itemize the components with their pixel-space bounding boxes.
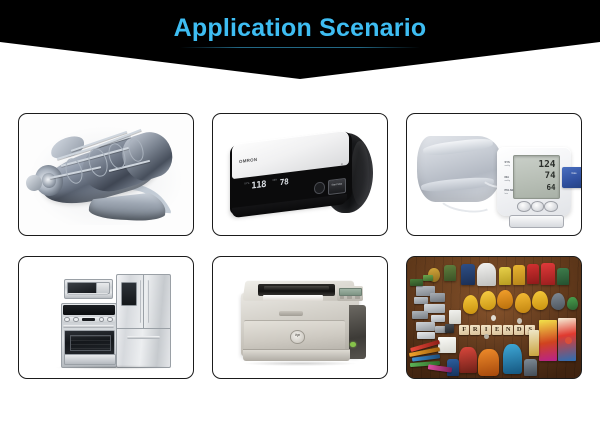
bp-sys-label: SYS mmHg [504, 162, 510, 167]
bp-systolic-value: 124 [538, 160, 555, 170]
printer-key-right[interactable] [355, 296, 359, 299]
panel-blood-pressure-monitor-with-cuff[interactable]: 124 74 64 SYS mmHg DIA mmHg PULSE /min [406, 113, 582, 236]
electric-range-oven [61, 303, 117, 368]
bp-dia-label: DIA mmHg [504, 177, 510, 182]
blood-pressure-monitor-with-cuff-image: 124 74 64 SYS mmHg DIA mmHg PULSE /min [407, 114, 581, 235]
panel-laser-printer[interactable] [212, 256, 388, 379]
bp-dia-unit: mmHg [504, 180, 510, 182]
tile-letter: I [481, 325, 491, 335]
tile-letter: R [470, 325, 480, 335]
bp-sys-unit: mmHg [504, 165, 510, 167]
bp-pulse-label: PULSE /min [504, 190, 513, 195]
printer-front-door-grip[interactable] [279, 311, 303, 316]
tile-letter: E [492, 325, 502, 335]
bp-diastolic-value: 74 [545, 172, 556, 181]
hp-logo-icon [290, 330, 306, 344]
tile-letter: D [514, 325, 524, 335]
scrabble-tiles: F R I E N D S [459, 325, 535, 335]
laser-printer-image [213, 257, 387, 378]
bp-set-button[interactable] [544, 201, 558, 211]
core-protect-line1: Core [562, 173, 581, 176]
title-underline [180, 47, 420, 48]
heart-indicator-icon [314, 181, 325, 194]
printer-control-panel[interactable] [337, 286, 363, 301]
omron-blood-pressure-monitor-image: OMRON ● SYS 118 DIA 78 Start Stop [213, 114, 387, 235]
bp-pulse-value: 64 [546, 184, 555, 192]
bp-button-row[interactable] [517, 202, 559, 210]
omron-diastolic-value: 78 [279, 178, 288, 187]
microwave-oven [64, 279, 113, 299]
printer-status-led [350, 342, 355, 347]
panel-omron-blood-pressure-monitor[interactable]: OMRON ● SYS 118 DIA 78 Start Stop [212, 113, 388, 236]
application-scenario-grid: OMRON ● SYS 118 DIA 78 Start Stop [18, 113, 582, 379]
printer-paper-cassette[interactable] [243, 349, 351, 361]
tile-letter: N [503, 325, 513, 335]
panel-kitchen-appliances[interactable] [18, 256, 194, 379]
omron-systolic-value: 118 [251, 181, 266, 192]
omron-start-stop-button[interactable]: Start Stop [328, 178, 346, 195]
page-title: Application Scenario [0, 14, 600, 43]
printer-key-mid[interactable] [347, 296, 351, 299]
omron-start-stop-label: Start Stop [329, 182, 345, 187]
header-banner: Application Scenario [0, 0, 600, 80]
bp-start-button[interactable] [509, 215, 563, 228]
omron-sys-label: SYS [244, 183, 249, 186]
tile-letter: F [459, 325, 469, 335]
bp-mode-button[interactable] [531, 201, 545, 211]
omron-dia-label: DIA [272, 180, 276, 183]
bp-memory-button[interactable] [517, 201, 531, 211]
toys-on-wooden-table-image: F R I E N D S [407, 257, 581, 378]
panel-toys-on-wooden-table[interactable]: F R I E N D S [406, 256, 582, 379]
bp-monitor-lcd: 124 74 64 [513, 155, 560, 199]
printer-key-left[interactable] [340, 296, 344, 299]
bp-pulse-unit: /min [504, 193, 513, 195]
kitchen-appliances-image [19, 257, 193, 378]
panel-gas-turbine-engine[interactable] [18, 113, 194, 236]
french-door-refrigerator [116, 274, 170, 368]
gas-turbine-engine-image [19, 114, 193, 235]
core-protect-badge: Core [562, 167, 581, 188]
